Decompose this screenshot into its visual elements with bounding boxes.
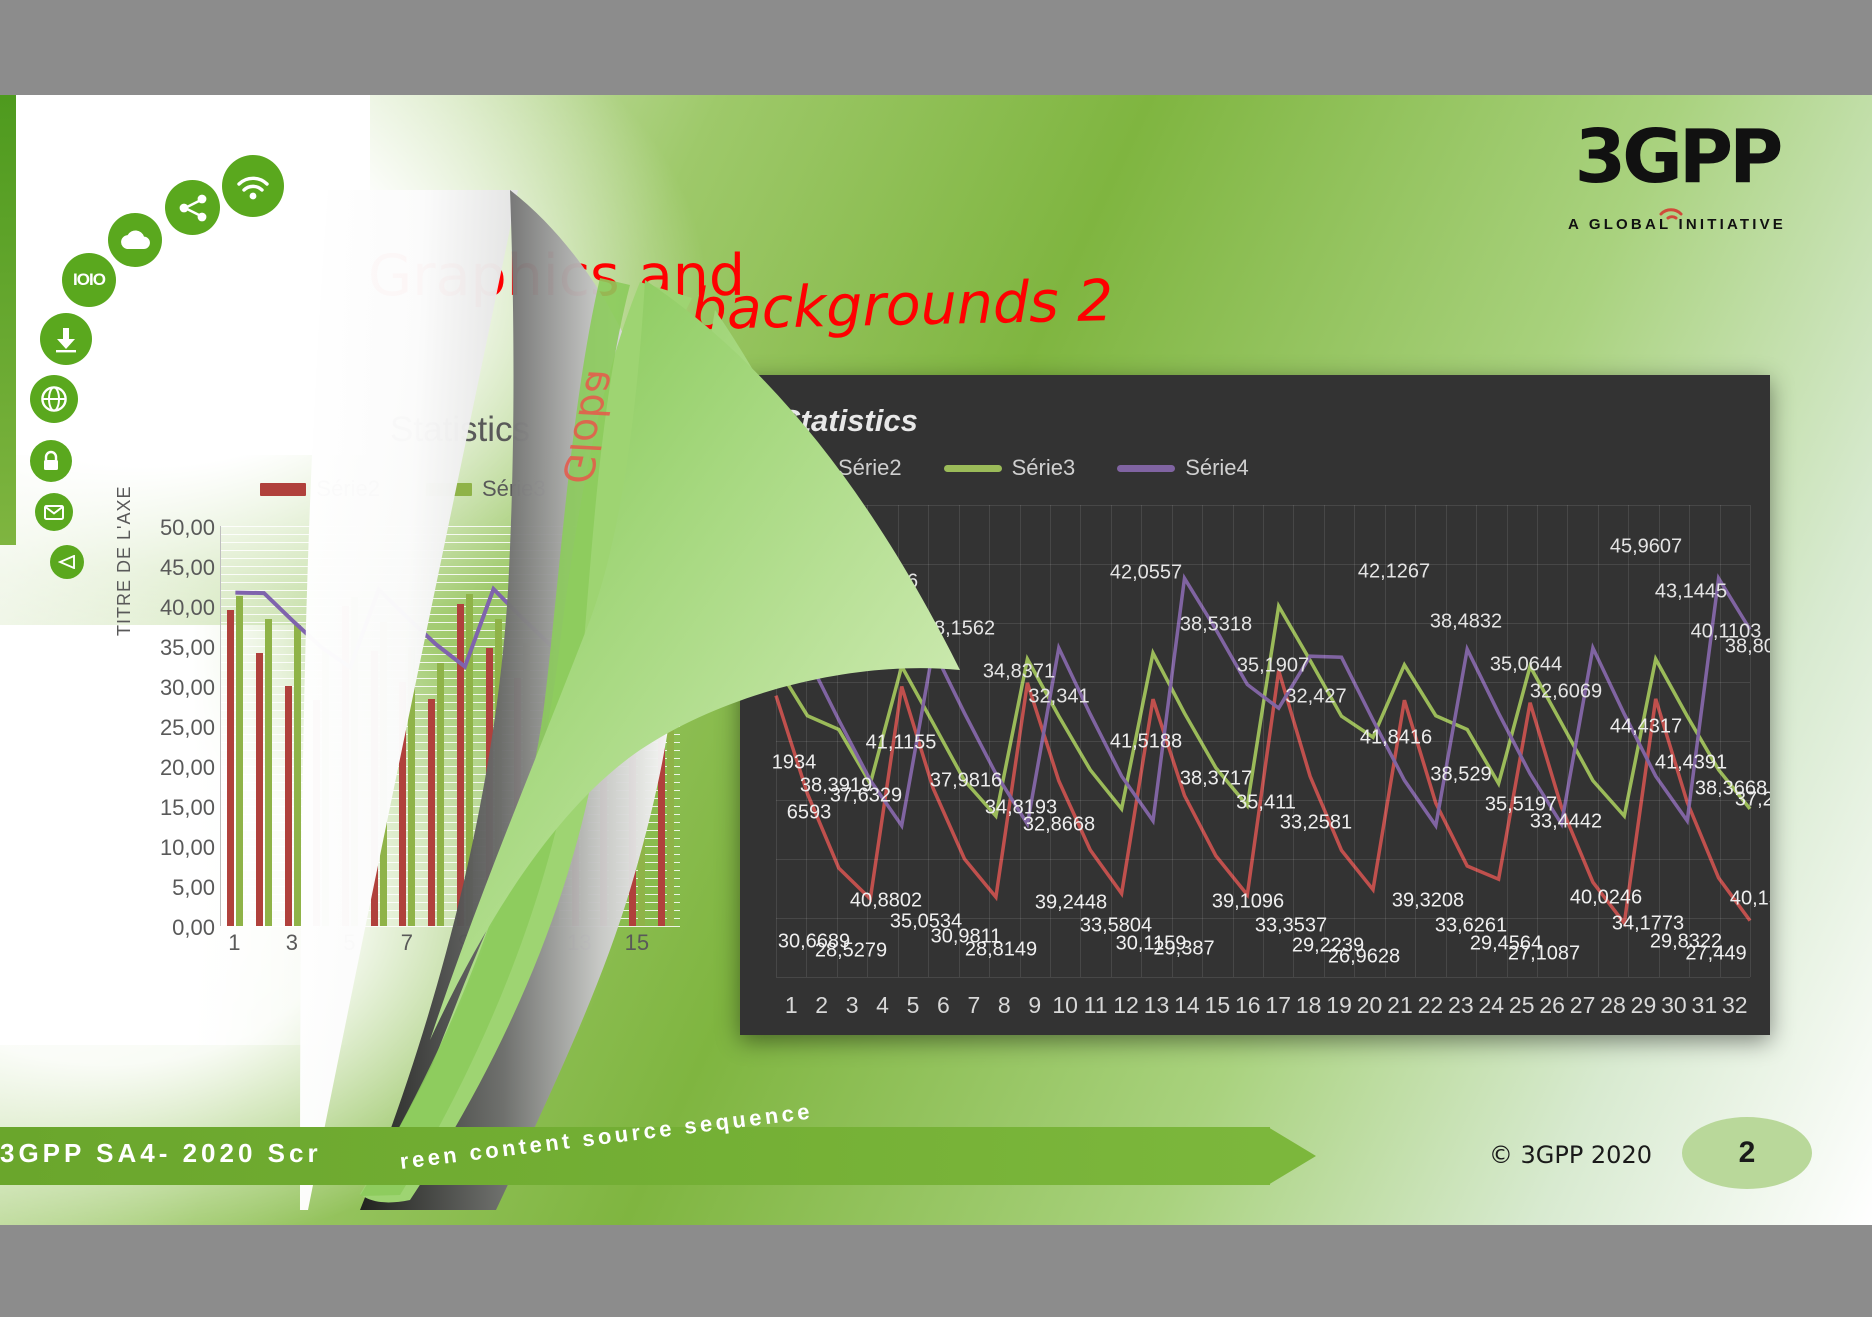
chart-dark-plot-area [776,505,1750,977]
logo-swoosh-icon [1655,194,1711,220]
chart-dark-x-tick: 3 [837,992,867,1019]
send-icon [50,545,84,579]
legend-label-dark-serie2: Série2 [838,455,902,481]
chart-light-x-tick [651,930,680,956]
chart-light-y-tick: 25,00 [130,715,215,741]
legend-item-dark-serie3: Série3 [944,455,1076,481]
chart-dark-x-tick: 7 [959,992,989,1019]
chart-light-y-ticks: 50,0045,0040,0035,0030,0025,0020,0015,00… [120,526,215,926]
chart-dark-title: Statistics [780,403,1770,439]
chart-dark-x-tick: 11 [1080,992,1110,1019]
share-nodes-icon [165,180,220,235]
chart-light-x-tick: 7 [393,930,422,956]
chart-light-title: Statistics [240,410,680,450]
chart-dark-x-tick: 23 [1446,992,1476,1019]
legend-swatch-serie2 [260,483,306,496]
chart-dark-x-tick: 9 [1020,992,1050,1019]
mail-icon [35,493,73,531]
legend-item-dark-serie2: Série2 [770,455,902,481]
chart-dark-x-tick: 15 [1202,992,1232,1019]
chart-dark-x-tick: 30 [1659,992,1689,1019]
cloud-icon [108,213,162,267]
legend-swatch-serie4 [592,486,650,493]
footer-arrow-icon [1268,1127,1316,1185]
presentation-slide: IOIO 3GPP [0,95,1872,1225]
chart-light-x-tick [479,930,508,956]
gridline-horizontal [776,859,1750,860]
wifi-icon [222,155,284,217]
chart-light-y-tick: 50,00 [130,515,215,541]
gridline-horizontal [776,682,1750,683]
chart-light-x-tick [364,930,393,956]
chart-light-y-tick: 20,00 [130,755,215,781]
gridline-horizontal [776,800,1750,801]
chart-dark-x-tick: 5 [898,992,928,1019]
legend-label-serie2: Série2 [316,476,380,502]
chart-light-x-tick [306,930,335,956]
gridline-horizontal [776,918,1750,919]
chart-dark-legend: Série2 Série3 Série4 [770,455,1770,481]
chart-dark-x-tick: 24 [1476,992,1506,1019]
chart-dark-x-tick: 22 [1415,992,1445,1019]
lock-icon [30,440,72,482]
chart-dark-x-tick: 17 [1263,992,1293,1019]
chart-light-y-tick: 30,00 [130,675,215,701]
chart-light-x-tick: 15 [623,930,652,956]
chart-dark-x-tick: 6 [928,992,958,1019]
globe-icon [30,375,78,423]
chart-light-x-tick [421,930,450,956]
chart-dark-x-tick: 20 [1354,992,1384,1019]
gridline [221,926,680,927]
chart-light-x-tick [249,930,278,956]
page-number-badge: 2 [1682,1117,1812,1189]
chart-dark-x-tick: 4 [867,992,897,1019]
chart-light-x-tick [536,930,565,956]
legend-label-dark-serie3: Série3 [1012,455,1076,481]
chart-dark-x-tick: 1 [776,992,806,1019]
chart-light-x-tick: 11 [508,930,537,956]
footer-copyright: © 3GPP 2020 [1489,1141,1652,1169]
logo-wordmark: 3GPP [1537,120,1817,194]
chart-light-y-tick: 40,00 [130,595,215,621]
chart-dark-x-tick: 13 [1141,992,1171,1019]
chart-light-x-tick [594,930,623,956]
legend-swatch-dark-serie2 [770,465,828,472]
chart-light-x-tick: 5 [335,930,364,956]
screenshot-stage: IOIO 3GPP [0,0,1872,1317]
chart-light-y-tick: 5,00 [130,875,215,901]
download-icon [40,313,92,365]
gridline-horizontal [776,741,1750,742]
chart-light-y-tick: 0,00 [130,915,215,941]
chart-dark-x-tick: 32 [1720,992,1750,1019]
chart-dark-x-tick: 28 [1598,992,1628,1019]
gridline-horizontal [776,564,1750,565]
slide-footer: 3GPP SA4- 2020 Scr reen content source s… [0,1115,1872,1225]
slide-title-line2: backgrounds 2 [690,268,1114,343]
chart-light: Statistics Série2 Série3 TITRE DE L'AXE … [120,410,680,1010]
chart-dark-x-tick: 8 [989,992,1019,1019]
chart-light-y-tick: 15,00 [130,795,215,821]
gridline-horizontal [776,505,1750,506]
legend-swatch-serie3 [426,483,472,496]
chart-dark-x-tick: 31 [1689,992,1719,1019]
chart-light-x-ticks: 13579111315 [220,930,680,956]
legend-label-serie3: Série3 [482,476,546,502]
legend-item-serie2: Série2 [260,476,380,502]
slide-title-line1: Graphics and [368,243,745,309]
chart-dark-x-tick: 12 [1111,992,1141,1019]
chart-light-legend: Série2 Série3 [230,476,680,502]
legend-item-serie3: Série3 [426,476,546,502]
chart-dark-x-tick: 14 [1172,992,1202,1019]
chart-light-x-tick: 1 [220,930,249,956]
chart-light-x-tick: 13 [565,930,594,956]
binary-icon: IOIO [62,253,116,307]
chart-dark-x-ticks: 1234567891011121314151617181920212223242… [776,992,1750,1019]
chart-light-x-tick: 9 [450,930,479,956]
chart-light-y-tick: 45,00 [130,555,215,581]
gridline-horizontal [776,977,1750,978]
chart-dark-x-tick: 16 [1233,992,1263,1019]
chart-light-line-serie4 [221,526,680,926]
chart-dark-x-tick: 25 [1507,992,1537,1019]
chart-dark-x-tick: 21 [1385,992,1415,1019]
chart-light-x-tick: 3 [278,930,307,956]
footer-left-text: 3GPP SA4- 2020 Scr [0,1138,322,1169]
chart-dark-x-tick: 27 [1567,992,1597,1019]
legend-swatch-dark-serie4 [1117,465,1175,472]
chart-light-y-tick: 10,00 [130,835,215,861]
chart-dark-x-tick: 18 [1293,992,1323,1019]
chart-dark-x-tick: 10 [1050,992,1080,1019]
chart-dark: Statistics Série2 Série3 Série4 6741,61 [740,375,1770,1035]
line-serie4 [235,558,665,667]
chart-dark-x-tick: 19 [1324,992,1354,1019]
chart-light-y-tick: 35,00 [130,635,215,661]
legend-item-dark-serie4: Série4 [1117,455,1249,481]
chart-light-plot-area [220,526,680,926]
chart-dark-x-tick: 2 [806,992,836,1019]
chart-dark-x-tick: 29 [1628,992,1658,1019]
3gpp-logo: 3GPP A GLOBAL INITIATIVE [1537,120,1817,295]
legend-swatch-dark-serie3 [944,465,1002,472]
gridline-horizontal [776,623,1750,624]
chart-dark-x-tick: 26 [1537,992,1567,1019]
gridline-vertical [1750,505,1751,977]
legend-label-dark-serie4: Série4 [1185,455,1249,481]
legend-item-serie4 [592,486,650,493]
chart-light-plot: TITRE DE L'AXE 50,0045,0040,0035,0030,00… [120,526,680,926]
